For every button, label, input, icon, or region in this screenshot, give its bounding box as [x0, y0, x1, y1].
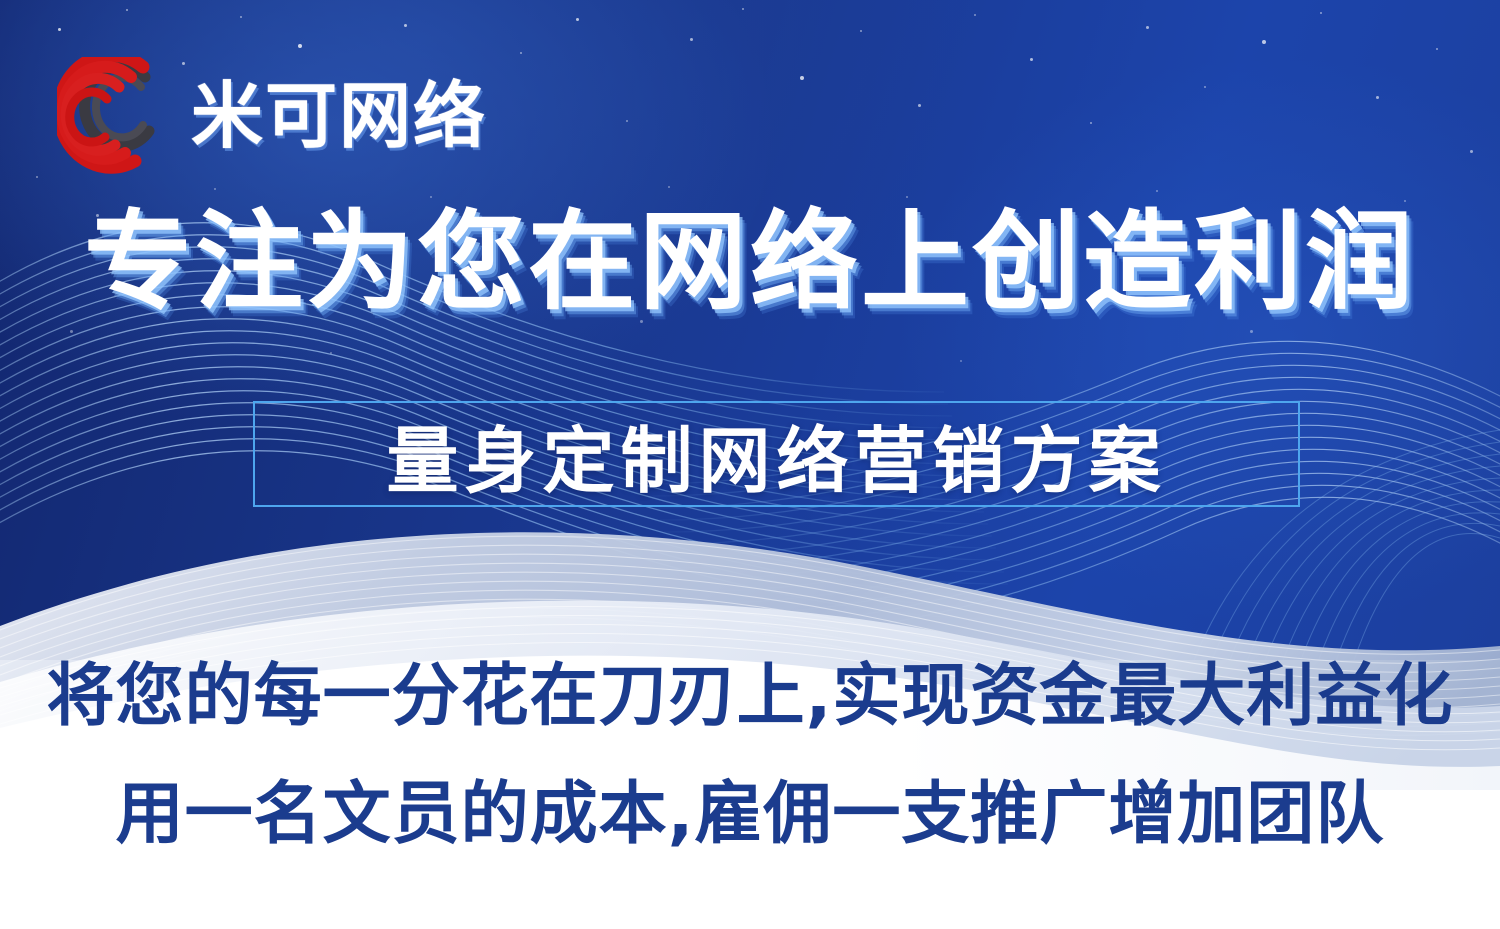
brand-name: 米可网络 [191, 80, 487, 152]
hero-subtitle: 量身定制网络营销方案 [253, 401, 1300, 507]
marketing-banner: 米可网络 专注为您在网络上创造利润 量身定制网络营销方案 将您的每一分花在刀刃上… [0, 0, 1500, 929]
background-glow-right [900, 60, 1500, 620]
globe-swoosh-icon [57, 57, 169, 175]
hero-headline: 专注为您在网络上创造利润 [0, 205, 1500, 322]
tagline-group: 将您的每一分花在刀刃上,实现资金最大利益化 用一名文员的成本,雇佣一支推广增加团… [0, 658, 1500, 854]
brand-logo[interactable]: 米可网络 [57, 57, 487, 175]
tagline-line-1: 将您的每一分花在刀刃上,实现资金最大利益化 [47, 658, 1454, 736]
tagline-line-2: 用一名文员的成本,雇佣一支推广增加团队 [116, 776, 1385, 854]
